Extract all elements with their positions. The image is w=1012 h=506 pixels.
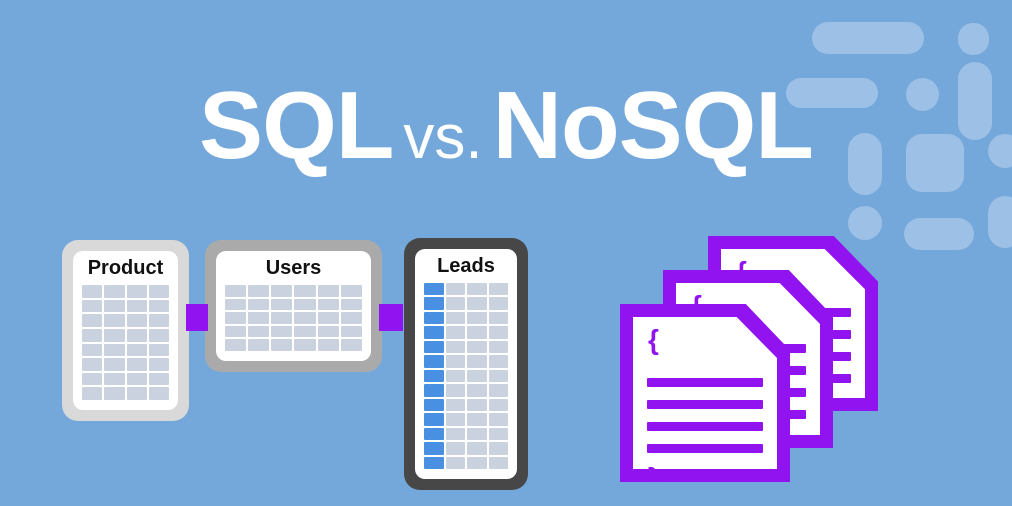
table-cell — [424, 384, 444, 396]
table-cell — [424, 326, 444, 338]
table-cell — [294, 326, 315, 338]
table-title-users: Users — [266, 257, 322, 280]
table-cell — [446, 312, 466, 324]
deco-pill-tall-1 — [958, 23, 989, 55]
table-cell — [489, 370, 509, 382]
table-cell — [149, 329, 169, 342]
table-cell — [467, 384, 487, 396]
table-cell — [341, 312, 362, 324]
table-cell — [489, 297, 509, 309]
table-cell — [248, 285, 269, 297]
table-cell — [104, 387, 124, 400]
table-cell — [424, 428, 444, 440]
table-cell — [467, 413, 487, 425]
table-cell — [127, 344, 147, 357]
table-cell — [341, 285, 362, 297]
table-cell — [489, 283, 509, 295]
table-cell — [424, 355, 444, 367]
table-cell — [104, 329, 124, 342]
title-term-vs: vs. — [393, 103, 492, 172]
table-cell — [341, 299, 362, 311]
table-cell — [489, 341, 509, 353]
table-cell — [446, 297, 466, 309]
table-cell — [489, 413, 509, 425]
table-cell — [446, 370, 466, 382]
json-line-front-1 — [647, 378, 763, 387]
table-cell — [127, 314, 147, 327]
json-close-brace-front: } — [648, 464, 659, 492]
table-cell — [82, 285, 102, 298]
table-cell — [446, 326, 466, 338]
table-title-leads: Leads — [437, 255, 495, 278]
table-cell — [149, 314, 169, 327]
table-cell — [489, 428, 509, 440]
table-cell — [104, 314, 124, 327]
table-grid-product — [82, 285, 169, 400]
table-inner-users: Users — [216, 251, 371, 361]
table-cell — [318, 339, 339, 351]
table-inner-product: Product — [73, 251, 178, 410]
table-cell — [225, 326, 246, 338]
table-cell — [104, 344, 124, 357]
table-cell — [82, 314, 102, 327]
table-cell — [248, 312, 269, 324]
table-cell — [149, 300, 169, 313]
table-cell — [127, 285, 147, 298]
table-cell — [446, 384, 466, 396]
table-card-leads[interactable]: Leads — [404, 238, 528, 490]
table-cell — [127, 373, 147, 386]
table-cell — [424, 457, 444, 469]
table-cell — [82, 358, 102, 371]
table-cell — [467, 355, 487, 367]
table-cell — [149, 387, 169, 400]
table-cell — [225, 312, 246, 324]
title-term-nosql: NoSQL — [493, 72, 813, 179]
json-line-front-2 — [647, 400, 763, 409]
table-cell — [424, 399, 444, 411]
table-cell — [127, 300, 147, 313]
json-label-front: JSON — [689, 489, 757, 506]
table-cell — [82, 329, 102, 342]
table-cell — [318, 312, 339, 324]
json-document-front[interactable]: { } JSON — [620, 304, 790, 482]
table-cell — [489, 384, 509, 396]
table-cell — [294, 339, 315, 351]
table-cell — [341, 326, 362, 338]
table-cell — [104, 285, 124, 298]
table-cell — [489, 326, 509, 338]
table-cell — [104, 373, 124, 386]
table-cell — [104, 300, 124, 313]
table-cell — [446, 355, 466, 367]
table-cell — [467, 326, 487, 338]
table-cell — [271, 312, 292, 324]
deco-pill-wide-3 — [904, 218, 974, 250]
table-cell — [318, 285, 339, 297]
table-cell — [424, 283, 444, 295]
table-cell — [294, 285, 315, 297]
table-cell — [446, 428, 466, 440]
table-cell — [424, 297, 444, 309]
deco-pill-wide-1 — [812, 22, 924, 54]
table-cell — [489, 355, 509, 367]
table-cell — [318, 299, 339, 311]
table-cell — [467, 370, 487, 382]
json-documents-group: { JSON { JSON { } JSON — [615, 232, 890, 482]
table-cell — [424, 413, 444, 425]
deco-pill-tall-5 — [988, 196, 1012, 248]
table-cell — [271, 299, 292, 311]
infographic-canvas: SQLvs.NoSQL Product Users Leads — [0, 0, 1012, 506]
table-cell — [424, 442, 444, 454]
table-cell — [489, 399, 509, 411]
table-card-product[interactable]: Product — [62, 240, 189, 421]
table-cell — [467, 341, 487, 353]
table-grid-leads — [424, 283, 508, 469]
table-cell — [446, 399, 466, 411]
table-cell — [127, 329, 147, 342]
table-cell — [424, 341, 444, 353]
table-cell — [82, 344, 102, 357]
table-cell — [248, 299, 269, 311]
table-card-users[interactable]: Users — [205, 240, 382, 372]
table-cell — [149, 344, 169, 357]
table-cell — [294, 312, 315, 324]
table-inner-leads: Leads — [415, 249, 517, 479]
table-cell — [446, 442, 466, 454]
table-cell — [225, 339, 246, 351]
table-title-product: Product — [88, 257, 164, 280]
table-cell — [149, 373, 169, 386]
table-cell — [271, 339, 292, 351]
table-grid-users — [225, 285, 362, 351]
table-cell — [82, 387, 102, 400]
table-cell — [467, 457, 487, 469]
table-cell — [294, 299, 315, 311]
table-cell — [467, 442, 487, 454]
json-line-front-3 — [647, 422, 763, 431]
table-cell — [318, 326, 339, 338]
page-title: SQLvs.NoSQL — [0, 78, 1012, 174]
table-cell — [489, 312, 509, 324]
title-term-sql: SQL — [199, 72, 393, 179]
connector-product-users — [186, 304, 208, 331]
table-cell — [271, 285, 292, 297]
table-cell — [467, 297, 487, 309]
table-cell — [489, 442, 509, 454]
table-cell — [467, 428, 487, 440]
table-cell — [149, 285, 169, 298]
table-cell — [489, 457, 509, 469]
table-cell — [446, 413, 466, 425]
table-cell — [446, 283, 466, 295]
table-cell — [127, 387, 147, 400]
table-cell — [82, 300, 102, 313]
table-cell — [424, 312, 444, 324]
table-cell — [225, 299, 246, 311]
table-cell — [446, 341, 466, 353]
connector-users-leads — [379, 304, 403, 331]
table-cell — [225, 285, 246, 297]
table-cell — [104, 358, 124, 371]
table-cell — [467, 312, 487, 324]
table-cell — [149, 358, 169, 371]
table-cell — [341, 339, 362, 351]
json-line-front-4 — [647, 444, 763, 453]
table-cell — [424, 370, 444, 382]
table-cell — [248, 326, 269, 338]
table-cell — [248, 339, 269, 351]
table-cell — [82, 373, 102, 386]
table-cell — [127, 358, 147, 371]
json-open-brace-front: { — [648, 326, 659, 354]
table-cell — [271, 326, 292, 338]
table-cell — [467, 399, 487, 411]
table-cell — [446, 457, 466, 469]
table-cell — [467, 283, 487, 295]
